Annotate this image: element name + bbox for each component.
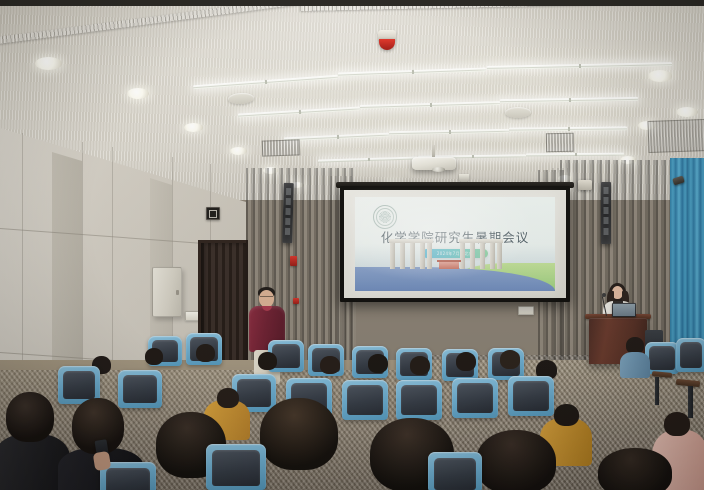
wall-plaque [601,182,611,244]
red-roof [437,260,461,263]
attendee-head [258,352,277,370]
hvac-vent [647,119,704,153]
projector-lens [432,167,445,172]
campus-gate-left [389,239,433,269]
emergency-button[interactable] [293,298,299,304]
foreground-attendee [468,430,574,490]
laptop-screen [613,304,635,316]
wall-switch-plate[interactable] [518,306,534,315]
attendee-head [410,356,430,375]
attendee-head [260,398,338,470]
attendee-head [217,388,239,408]
recessed-downlight [184,123,203,132]
exit-sign [206,207,220,220]
seal-inner-pattern [379,211,391,223]
attendee-head [368,354,388,373]
auditorium-photo: 化学学院研究生暑期会议 2024年7月 · 北京 [0,0,704,490]
recessed-downlight [676,107,698,117]
campus-gate-right [459,239,503,269]
attendee-head [196,344,215,362]
attendee-shirt [620,352,650,378]
recessed-downlight [648,70,672,82]
recessed-downlight [127,88,149,99]
foreground-attendee [592,448,688,490]
hvac-vent [546,133,574,152]
wall-plaque [282,183,294,243]
hvac-vent [262,139,301,156]
seated-attendee [620,337,650,379]
emergency-call-point[interactable] [290,256,297,266]
attendee-head [320,356,340,374]
attendee-head [500,350,520,369]
glasses-icon [260,296,273,300]
presentation-slide: 化学学院研究生暑期会议 2024年7月 · 北京 [355,197,555,291]
attendee-head [476,430,556,490]
university-seal-logo [373,205,397,229]
ceiling-top-edge [0,0,704,6]
attendee-hand [93,451,112,471]
podium-laptop[interactable] [612,303,636,317]
attendee-head [598,448,672,490]
recessed-downlight [230,147,247,155]
attendee-head [145,348,163,365]
cabinet-latch [176,290,179,295]
wall-speaker [578,180,592,190]
attendee-head [664,412,690,436]
podium-microphone-head [602,293,606,297]
foreground-attendee [252,398,356,490]
attendee-head [554,404,579,426]
recessed-downlight [35,57,62,70]
chair-leg [655,377,659,405]
red-roof-building [439,261,459,269]
wall-utility-cabinet[interactable] [152,267,182,317]
attendee-head [6,392,54,442]
attendee-head [456,352,476,371]
